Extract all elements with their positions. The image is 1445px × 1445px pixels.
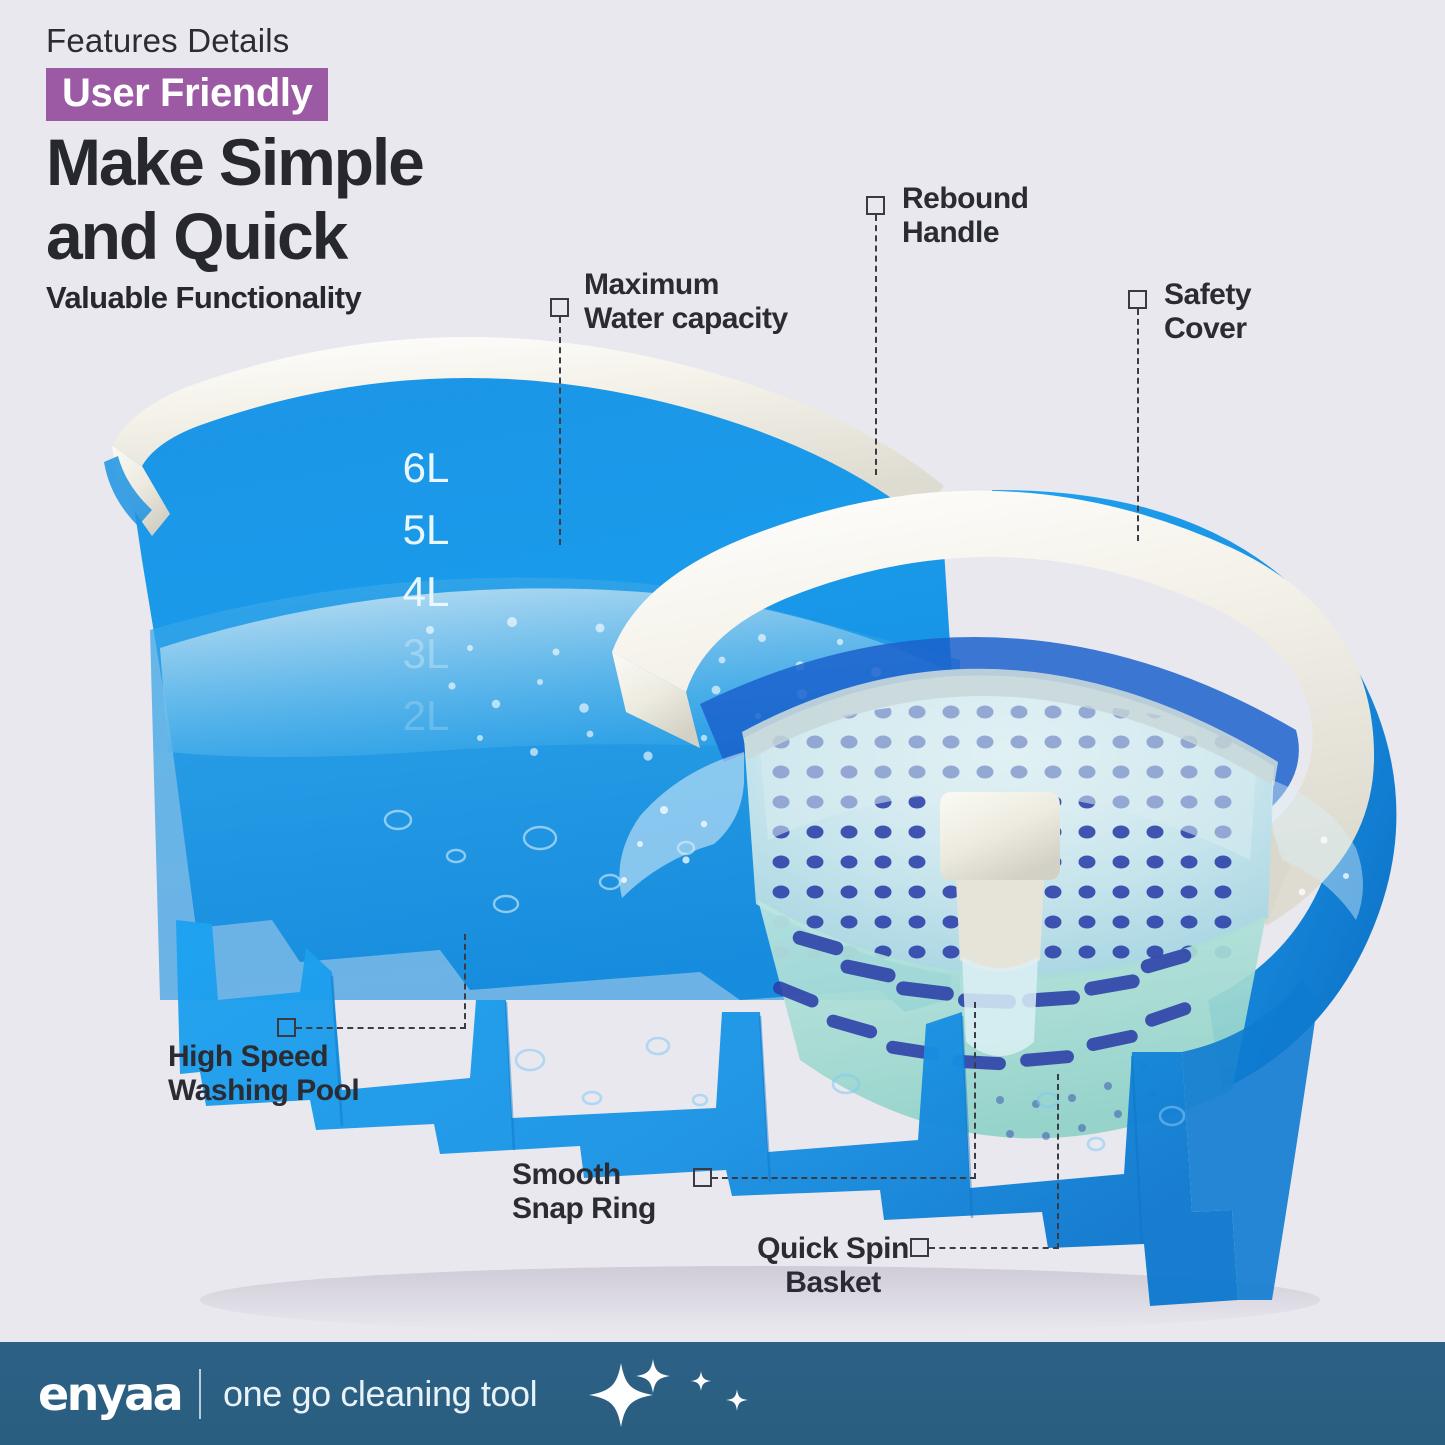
marker-rebound-handle[interactable] (866, 196, 885, 215)
callout-label-high-speed-washing-pool: High Speed Washing Pool (168, 1040, 498, 1108)
page-subtitle: Valuable Functionality (46, 280, 666, 316)
callout-high-speed-washing-pool: High Speed Washing Pool (168, 1040, 498, 1108)
footer-tagline: one go cleaning tool (223, 1373, 537, 1415)
sparkle-icon (579, 1359, 759, 1429)
water-mark-2L: 2L (403, 692, 450, 739)
water-mark-5L: 5L (403, 506, 450, 553)
connector-high-speed-washing-pool-v (464, 934, 466, 1029)
footer-divider (199, 1369, 201, 1419)
infographic-canvas: Features Details User Friendly Make Simp… (0, 0, 1445, 1445)
water-mark-6L: 6L (403, 444, 450, 491)
water-mark-4L: 4L (403, 568, 450, 615)
callout-rebound-handle: Rebound Handle (902, 182, 1162, 250)
water-mark-3L: 3L (403, 630, 450, 677)
connector-rebound-handle (875, 215, 877, 475)
marker-quick-spin-basket[interactable] (910, 1238, 929, 1257)
marker-safety-cover[interactable] (1128, 290, 1147, 309)
callout-label-rebound-handle: Rebound Handle (902, 182, 1162, 250)
page-title-line2: and Quick (46, 204, 666, 269)
marker-smooth-snap-ring[interactable] (693, 1168, 712, 1187)
page-title-line1: Make Simple (46, 130, 666, 195)
connector-high-speed-washing-pool-h (296, 1027, 466, 1029)
callout-smooth-snap-ring: Smooth Snap Ring (512, 1158, 762, 1226)
footer-bar: enyaa one go cleaning tool (0, 1342, 1445, 1445)
brand-logo: enyaa (38, 1367, 181, 1421)
user-friendly-badge: User Friendly (46, 68, 328, 121)
callout-label-smooth-snap-ring: Smooth Snap Ring (512, 1158, 762, 1226)
callout-safety-cover: Safety Cover (1164, 278, 1404, 346)
eyebrow-text: Features Details (46, 22, 666, 60)
header-block: Features Details User Friendly Make Simp… (46, 22, 666, 316)
connector-quick-spin-basket-v (1057, 1074, 1059, 1249)
connector-maximum-water-capacity (559, 317, 561, 545)
callout-label-safety-cover: Safety Cover (1164, 278, 1404, 346)
connector-smooth-snap-ring-v (974, 1002, 976, 1179)
connector-safety-cover (1137, 309, 1139, 541)
marker-high-speed-washing-pool[interactable] (277, 1018, 296, 1037)
